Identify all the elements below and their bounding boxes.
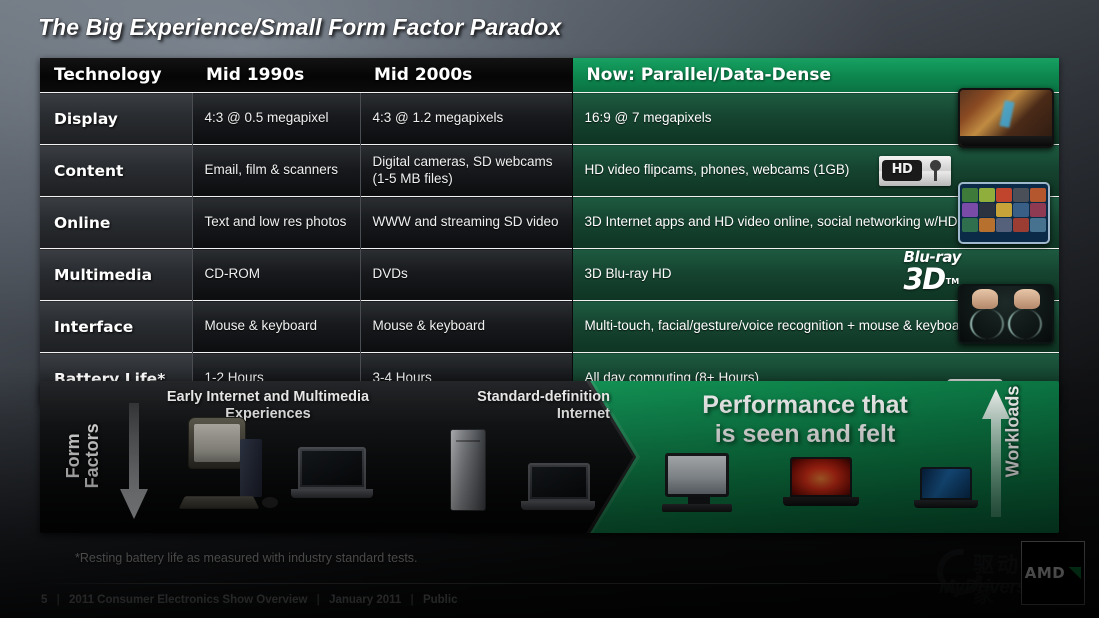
caption-early-internet: Early Internet and Multimedia Experience…	[148, 389, 388, 424]
table-header-row: Technology Mid 1990s Mid 2000s Now: Para…	[40, 58, 1059, 93]
trademark-symbol: TM	[946, 277, 959, 286]
era1-laptop-image	[298, 447, 373, 498]
cell-text: DVDs	[373, 266, 564, 283]
form-factors-line1: Form	[63, 433, 83, 478]
caption-sd-line1: Standard-definition	[477, 389, 610, 405]
page-title: The Big Experience/Small Form Factor Par…	[38, 14, 561, 41]
hd-badge-label: HD	[882, 160, 922, 181]
red-gaming-laptop-image	[790, 457, 859, 506]
caption-sd-line2: Internet	[557, 406, 610, 422]
cell-text: Mouse & keyboard	[373, 318, 564, 335]
blue-laptop-image	[920, 467, 978, 508]
footer-classification: Public	[423, 594, 458, 606]
cell-text: WWW and streaming SD video	[373, 214, 564, 231]
hd-logo-icon: HD	[879, 156, 951, 186]
row-label-interface: Interface	[40, 301, 192, 353]
amd-logo: AMD	[1021, 541, 1085, 605]
row-label-online: Online	[40, 197, 192, 249]
slide-canvas: The Big Experience/Small Form Factor Par…	[0, 0, 1099, 618]
footer-separator: |	[57, 594, 60, 606]
row-label-display: Display	[40, 93, 192, 145]
all-in-one-desktop-image	[665, 453, 732, 512]
column-header-mid-2000s: Mid 2000s	[360, 58, 572, 93]
cell-text: Text and low res photos	[205, 214, 352, 231]
cell-content-mid1990s: Email, film & scanners	[192, 145, 360, 197]
cell-text: 3D Blu-ray HD	[585, 266, 1052, 283]
cell-text: 4:3 @ 1.2 megapixels	[373, 110, 564, 127]
cell-online-mid2000s: WWW and streaming SD video	[360, 197, 572, 249]
cell-text: HD video flipcams, phones, webcams (1GB)	[585, 162, 1052, 179]
bluray-3d-logo-icon: Blu-ray 3DTM	[903, 251, 961, 295]
footer-bar: 5 | 2011 Consumer Electronics Show Overv…	[38, 594, 460, 606]
footer-separator: |	[411, 594, 414, 606]
caption-perf-line2: is seen and felt	[715, 420, 896, 448]
down-arrow-icon	[119, 403, 149, 521]
amd-wordmark: AMD	[1025, 564, 1066, 582]
crt-desktop-computer-image	[188, 417, 246, 469]
form-factors-axis-label: Form Factors	[64, 401, 102, 511]
cell-display-mid1990s: 4:3 @ 0.5 megapixel	[192, 93, 360, 145]
caption-standard-definition: Standard-definition Internet	[420, 389, 610, 424]
tablet-thumbnail-image	[958, 182, 1050, 244]
row-label-content: Content	[40, 145, 192, 197]
column-header-technology: Technology	[40, 58, 192, 93]
cell-text: 4:3 @ 0.5 megapixel	[205, 110, 352, 127]
cell-text: CD-ROM	[205, 266, 352, 283]
cell-online-mid1990s: Text and low res photos	[192, 197, 360, 249]
table-row: Content Email, film & scanners Digital c…	[40, 145, 1059, 197]
caption-performance: Performance that is seen and felt	[640, 391, 970, 449]
footer-divider	[36, 583, 1063, 584]
cell-text: Digital cameras, SD webcams (1-5 MB file…	[373, 154, 564, 188]
workloads-axis-label: Workloads	[1003, 381, 1024, 492]
multitouch-hands-thumbnail-image	[958, 284, 1054, 344]
cell-multimedia-mid1990s: CD-ROM	[192, 249, 360, 301]
footer-date: January 2011	[329, 594, 401, 606]
tv-thumbnail-image	[958, 88, 1054, 148]
cell-interface-mid2000s: Mouse & keyboard	[360, 301, 572, 353]
table-row: Interface Mouse & keyboard Mouse & keybo…	[40, 301, 1059, 353]
watermark-label: MyDrivers	[939, 577, 1026, 599]
technology-comparison-table: Technology Mid 1990s Mid 2000s Now: Para…	[40, 58, 1059, 404]
caption-perf-line1: Performance that	[702, 391, 908, 419]
form-factors-workloads-panel: Form Factors Early Internet and Multimed…	[40, 381, 1059, 533]
sd-era-laptop-image	[528, 463, 595, 510]
footer-page-number: 5	[41, 594, 47, 606]
caption-early-line1: Early Internet and Multimedia	[167, 389, 369, 405]
cell-content-mid2000s: Digital cameras, SD webcams (1-5 MB file…	[360, 145, 572, 197]
table-row: Multimedia CD-ROM DVDs 3D Blu-ray HD Blu…	[40, 249, 1059, 301]
cell-text: Mouse & keyboard	[205, 318, 352, 335]
footnote-text: *Resting battery life as measured with i…	[75, 551, 418, 565]
footer-separator: |	[317, 594, 320, 606]
footer-deck-title: 2011 Consumer Electronics Show Overview	[69, 594, 307, 606]
amd-arrow-icon	[1068, 567, 1081, 580]
table-row: Display 4:3 @ 0.5 megapixel 4:3 @ 1.2 me…	[40, 93, 1059, 145]
table-row: Online Text and low res photos WWW and s…	[40, 197, 1059, 249]
form-factors-line2: Factors	[82, 423, 102, 488]
cell-text: Email, film & scanners	[205, 162, 352, 179]
sd-era-tower-image	[450, 429, 486, 511]
cell-interface-mid1990s: Mouse & keyboard	[192, 301, 360, 353]
row-label-multimedia: Multimedia	[40, 249, 192, 301]
cell-multimedia-mid2000s: DVDs	[360, 249, 572, 301]
bluray-3d-text: 3D	[903, 265, 944, 294]
column-header-mid-1990s: Mid 1990s	[192, 58, 360, 93]
hd-bulb-icon	[922, 158, 948, 184]
cell-display-mid2000s: 4:3 @ 1.2 megapixels	[360, 93, 572, 145]
